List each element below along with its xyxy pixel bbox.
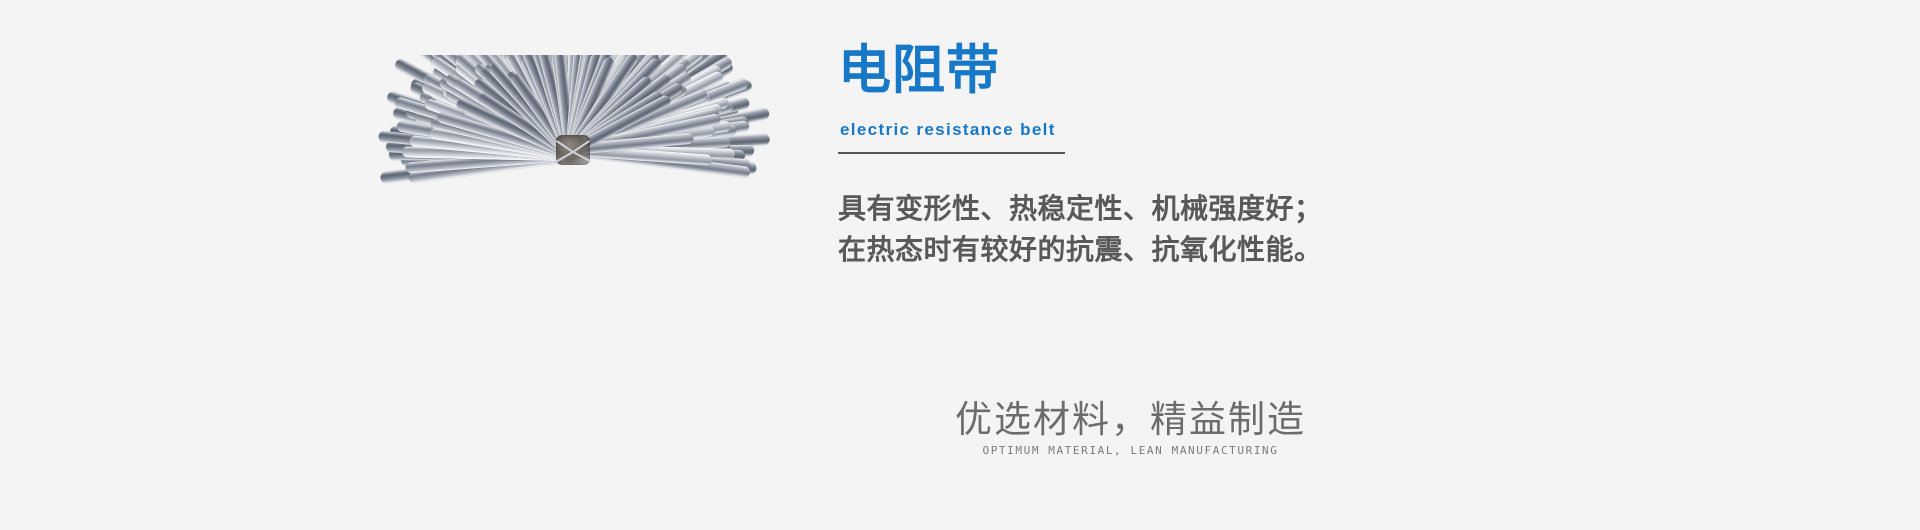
description-line-2: 在热态时有较好的抗震、抗氧化性能。 [838,229,1323,270]
description-line-1: 具有变形性、热稳定性、机械强度好； [838,188,1323,229]
hub-wire-strand [555,140,573,153]
title-divider [838,152,1065,154]
hub-wire-strand [555,151,573,163]
hub-wire-strand [572,151,591,162]
tagline-zh: 优选材料，精益制造 [955,398,1306,442]
product-image [370,55,775,395]
page-subtitle: electric resistance belt [840,120,1056,140]
product-image-stage [370,55,775,395]
tagline-block: 优选材料，精益制造 OPTIMUM MATERIAL, LEAN MANUFAC… [955,398,1306,458]
product-description: 具有变形性、热稳定性、机械强度好； 在热态时有较好的抗震、抗氧化性能。 [838,188,1323,270]
content-column: 电阻带 electric resistance belt 具有变形性、热稳定性、… [838,0,1838,530]
image-bottom-fade [370,369,775,395]
page-title: 电阻带 [838,44,1000,97]
tagline-en: OPTIMUM MATERIAL, LEAN MANUFACTURING [955,444,1306,458]
product-banner: 电阻带 electric resistance belt 具有变形性、热稳定性、… [0,0,1920,530]
coil-hub-wire [550,134,596,168]
